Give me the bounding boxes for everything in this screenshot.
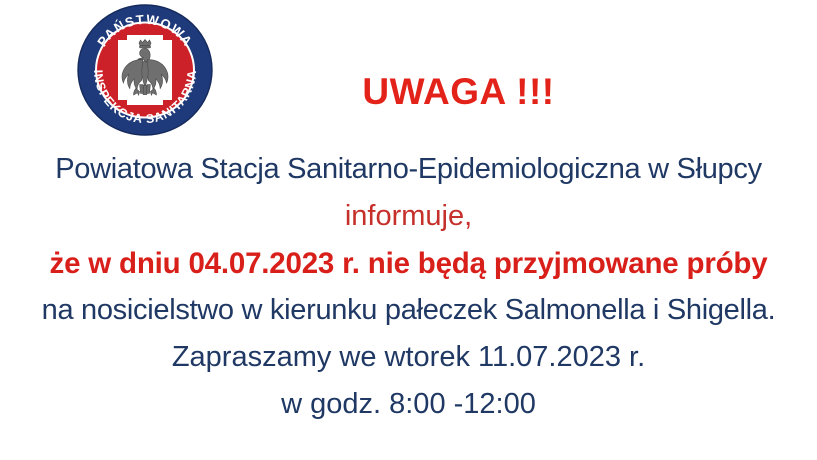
- announcement-body: Powiatowa Stacja Sanitarno-Epidemiologic…: [0, 146, 817, 428]
- headline-row: UWAGA !!!: [0, 73, 817, 110]
- body-line-5: Zapraszamy we wtorek 11.07.2023 r.: [0, 334, 817, 381]
- headline-uwaga: UWAGA !!!: [362, 73, 554, 110]
- body-line-4: na nosicielstwo w kierunku pałeczek Salm…: [0, 287, 817, 334]
- body-line-3: że w dniu 04.07.2023 r. nie będą przyjmo…: [0, 240, 817, 287]
- body-line-6: w godz. 8:00 -12:00: [0, 381, 817, 428]
- body-line-2: informuje,: [0, 193, 817, 240]
- announcement-poster: PAŃSTWOWA INSPEKCJA SANITARNA UWAGA !!! …: [0, 0, 817, 460]
- sanitary-inspection-logo: PAŃSTWOWA INSPEKCJA SANITARNA: [77, 4, 213, 136]
- body-line-1: Powiatowa Stacja Sanitarno-Epidemiologic…: [0, 146, 817, 193]
